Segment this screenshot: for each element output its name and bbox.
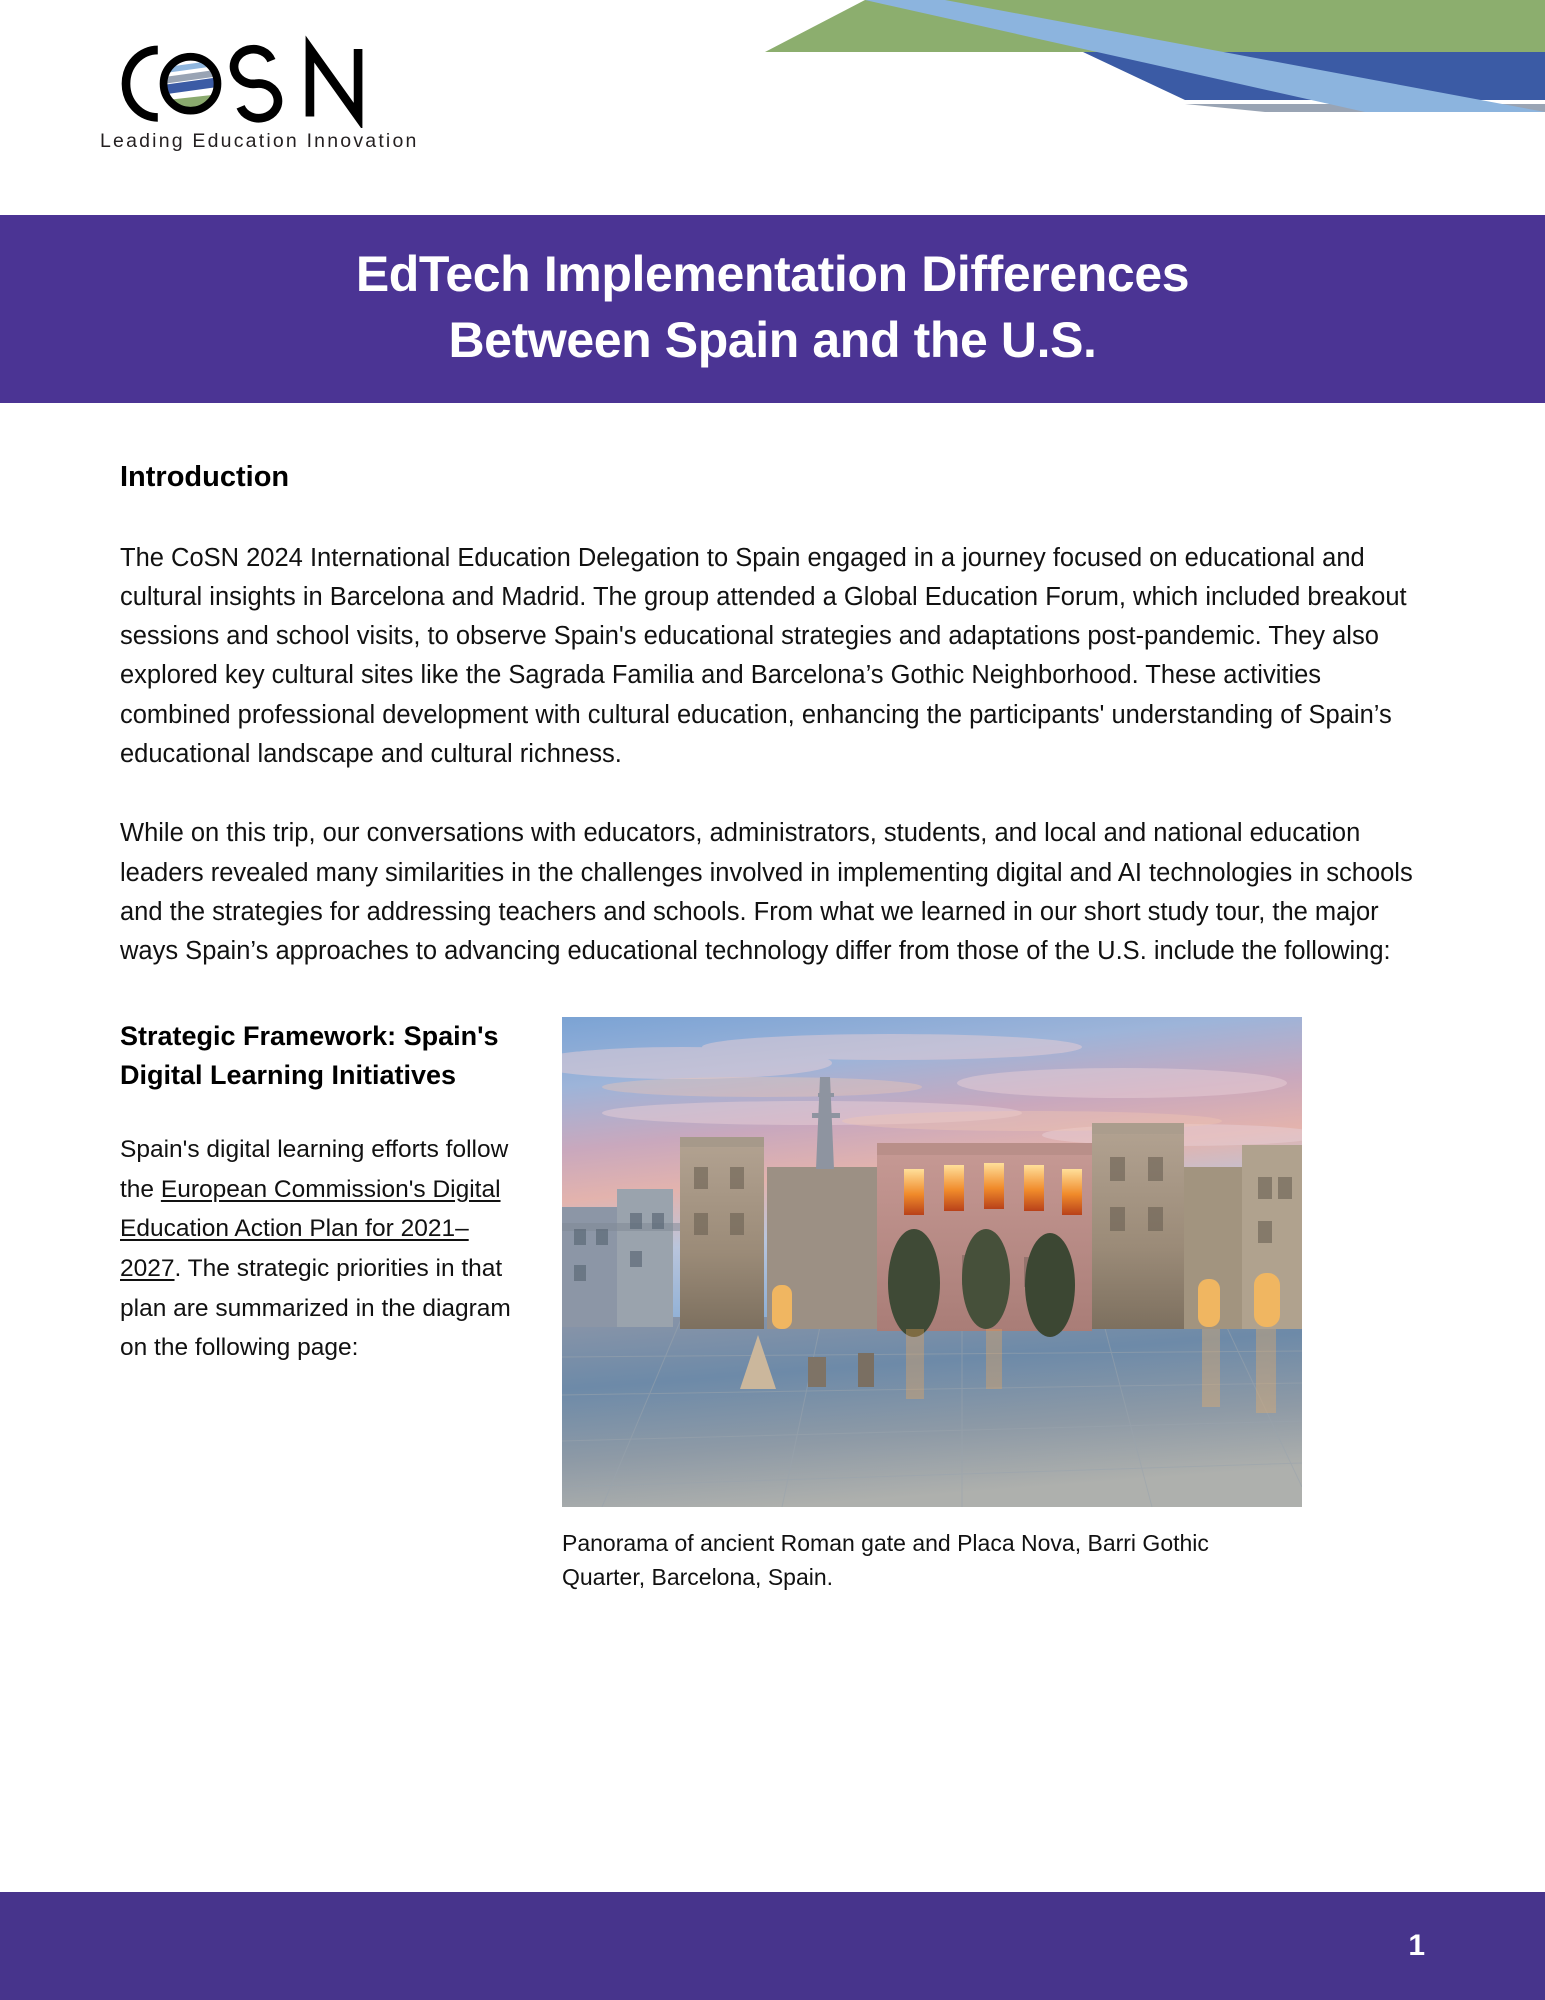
page-title-line-2: Between Spain and the U.S. bbox=[448, 307, 1096, 373]
page-number: 1 bbox=[1408, 1929, 1425, 1963]
page-title-line-1: EdTech Implementation Differences bbox=[356, 241, 1189, 307]
introduction-heading: Introduction bbox=[120, 459, 1425, 497]
paragraph-text-after-link: . The strategic priorities in that plan … bbox=[120, 1255, 511, 1361]
photo-column: Panorama of ancient Roman gate and Placa… bbox=[562, 1017, 1425, 1594]
header-ribbon-graphic bbox=[665, 0, 1545, 112]
page-header: Leading Education Innovation bbox=[0, 0, 1545, 215]
strategic-framework-heading: Strategic Framework: Spain's Digital Lea… bbox=[120, 1017, 520, 1094]
intro-paragraph-1: The CoSN 2024 International Education De… bbox=[120, 539, 1425, 775]
strategic-framework-section: Strategic Framework: Spain's Digital Lea… bbox=[120, 1017, 1425, 1594]
strategic-framework-paragraph: Spain's digital learning efforts follow … bbox=[120, 1130, 520, 1368]
strategic-framework-text-column: Strategic Framework: Spain's Digital Lea… bbox=[120, 1017, 520, 1594]
barcelona-photo bbox=[562, 1017, 1302, 1507]
cosn-logo: Leading Education Innovation bbox=[100, 24, 500, 153]
cosn-wordmark-icon bbox=[100, 24, 390, 128]
photo-caption: Panorama of ancient Roman gate and Placa… bbox=[562, 1527, 1262, 1594]
cosn-logo-tagline: Leading Education Innovation bbox=[100, 130, 500, 153]
intro-paragraph-2: While on this trip, our conversations wi… bbox=[120, 814, 1425, 971]
page-footer: 1 bbox=[0, 1892, 1545, 2000]
document-title-banner: EdTech Implementation Differences Betwee… bbox=[0, 215, 1545, 403]
barcelona-photo-image bbox=[562, 1017, 1302, 1507]
document-body: Introduction The CoSN 2024 International… bbox=[0, 403, 1545, 1595]
